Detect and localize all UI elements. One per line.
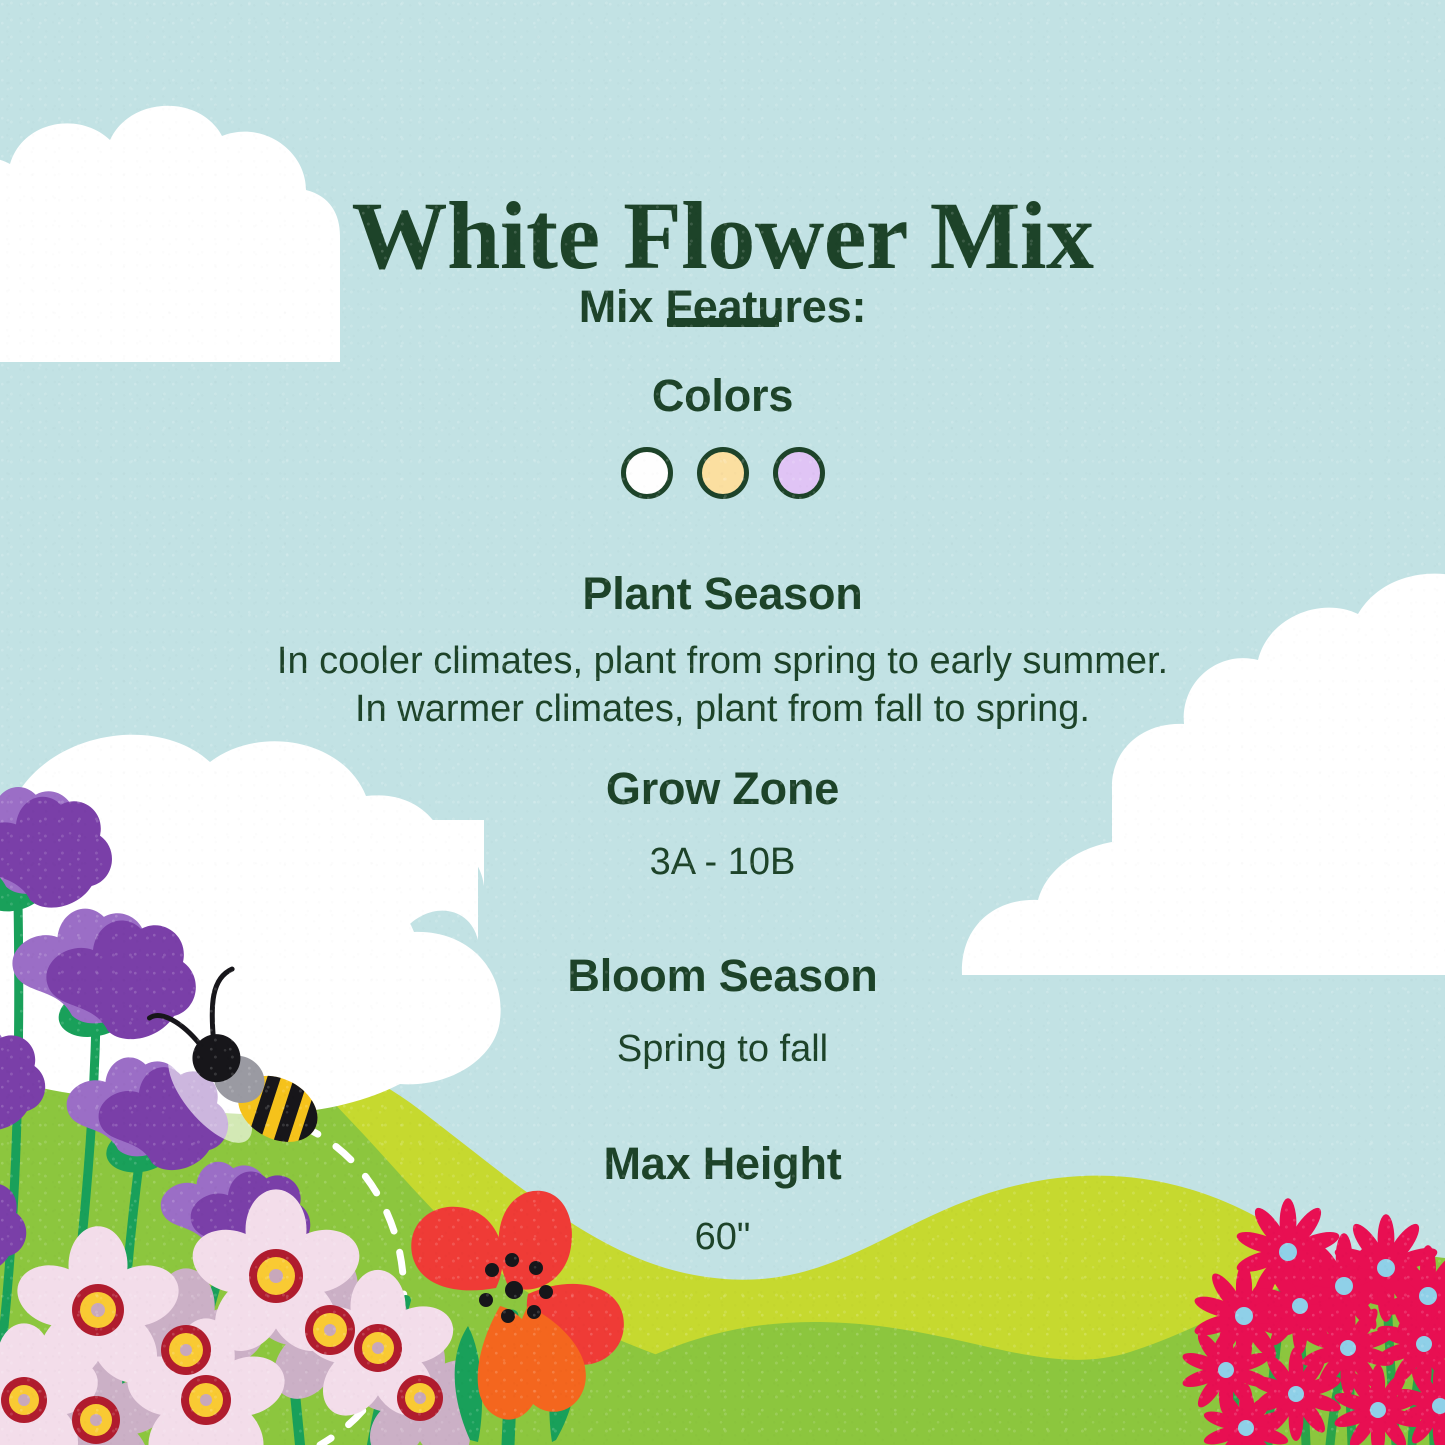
feature-heading-plant-season: Plant Season	[0, 570, 1445, 619]
feature-text-column: White Flower Mix Mix Features: Colors Pl…	[0, 0, 1445, 1445]
color-swatch-row	[0, 447, 1445, 499]
feature-value-grow-zone: 3A - 10B	[0, 838, 1445, 887]
feature-value-bloom-season: Spring to fall	[0, 1025, 1445, 1074]
feature-max-height: Max Height 60"	[0, 1140, 1445, 1261]
color-swatch-cream-yellow[interactable]	[697, 447, 749, 499]
color-swatch-white[interactable]	[621, 447, 673, 499]
feature-heading-max-height: Max Height	[0, 1140, 1445, 1189]
feature-plant-season: Plant Season In cooler climates, plant f…	[0, 570, 1445, 734]
title-divider	[667, 318, 779, 327]
page-title: White Flower Mix	[0, 186, 1445, 287]
feature-heading-grow-zone: Grow Zone	[0, 765, 1445, 814]
color-swatch-lavender[interactable]	[773, 447, 825, 499]
feature-value-max-height: 60"	[0, 1213, 1445, 1262]
feature-heading-bloom-season: Bloom Season	[0, 952, 1445, 1001]
feature-grow-zone: Grow Zone 3A - 10B	[0, 765, 1445, 886]
feature-bloom-season: Bloom Season Spring to fall	[0, 952, 1445, 1073]
feature-colors: Colors	[0, 372, 1445, 499]
title-divider-wrap	[0, 318, 1445, 327]
product-feature-card: White Flower Mix Mix Features: Colors Pl…	[0, 0, 1445, 1445]
feature-value-plant-season-line2: In warmer climates, plant from fall to s…	[0, 685, 1445, 734]
feature-value-plant-season-line1: In cooler climates, plant from spring to…	[0, 637, 1445, 686]
feature-heading-colors: Colors	[0, 372, 1445, 421]
